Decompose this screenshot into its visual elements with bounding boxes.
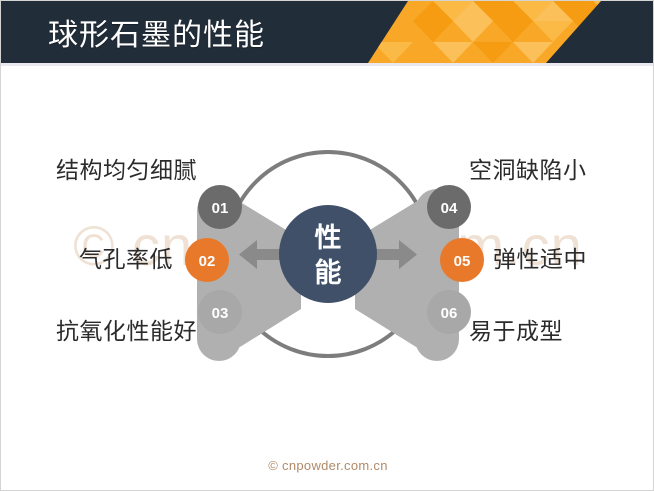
node-06[interactable]: 06 — [427, 290, 471, 334]
node-05[interactable]: 05 — [440, 238, 484, 282]
node-05-label: 弹性适中 — [493, 240, 654, 274]
node-06-label: 易于成型 — [469, 312, 654, 346]
slide: 球形石墨的性能 © cnpowder.com.cn — [0, 0, 654, 491]
node-02-label: 气孔率低 — [1, 240, 173, 274]
node-04-number: 04 — [441, 200, 458, 217]
node-04[interactable]: 04 — [427, 185, 471, 229]
header-divider — [1, 63, 654, 66]
center-label-line1: 性 — [315, 223, 342, 253]
slide-header: 球形石墨的性能 — [1, 1, 654, 63]
node-03-number: 03 — [212, 305, 229, 322]
node-02[interactable]: 02 — [185, 238, 229, 282]
node-05-number: 05 — [454, 253, 471, 270]
node-01-label: 结构均匀细腻 — [1, 151, 197, 185]
node-04-label: 空洞缺陷小 — [469, 151, 654, 185]
node-03[interactable]: 03 — [198, 290, 242, 334]
footer-copyright: © cnpowder.com.cn — [1, 458, 654, 473]
node-02-number: 02 — [199, 253, 216, 270]
page-title: 球形石墨的性能 — [48, 10, 265, 54]
node-01[interactable]: 01 — [198, 185, 242, 229]
center-circle — [279, 205, 377, 303]
node-01-number: 01 — [212, 200, 229, 217]
node-03-label: 抗氧化性能好 — [1, 312, 197, 346]
node-06-number: 06 — [441, 305, 458, 322]
center-label-line2: 能 — [315, 257, 342, 288]
